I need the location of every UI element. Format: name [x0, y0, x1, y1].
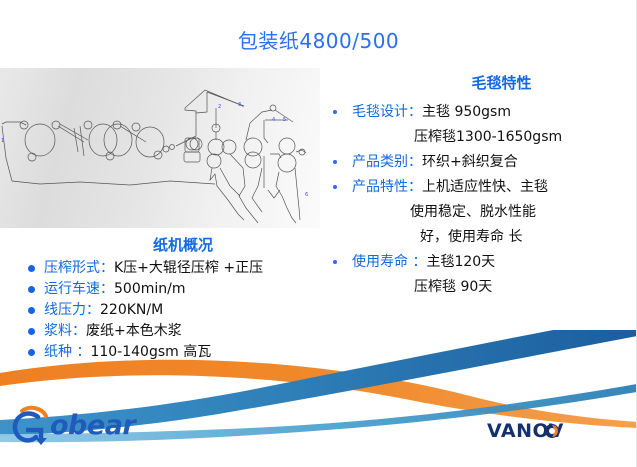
list-item: 产品类别：环织+斜织复合	[322, 151, 636, 174]
list-item: 运行车速：500min/m	[18, 279, 328, 299]
bullet-dot-icon	[333, 160, 337, 164]
diagram-label-1: 1	[1, 138, 4, 144]
gobear-mark-icon	[8, 404, 54, 450]
felt-properties-panel: 毛毯特性 毛毯设计：主毯 950gsm 压榨毯1300-1650gsm 产品类别…	[322, 72, 636, 301]
list-item: 使用寿命 ：主毯120天	[322, 251, 636, 274]
item-label: 压榨形式：	[44, 260, 114, 276]
felt-properties-heading: 毛毯特性	[322, 72, 636, 93]
item-label: 毛毯设计：	[352, 104, 422, 120]
item-label: 产品特性：	[352, 179, 422, 195]
item-continuation: 压榨毯 90天	[322, 276, 636, 299]
gobear-logo: obear	[8, 404, 168, 450]
felt-properties-list: 毛毯设计：主毯 950gsm 压榨毯1300-1650gsm 产品类别：环织+斜…	[322, 101, 636, 299]
bullet-dot-icon	[333, 110, 337, 114]
diagram-label-4: 4	[272, 117, 275, 123]
item-value: 上机适应性快、主毯	[422, 179, 548, 195]
page-title: 包装纸4800/500	[0, 25, 636, 54]
item-value: 环织+斜织复合	[422, 154, 518, 170]
item-value: 主毯 950gsm	[422, 104, 511, 120]
slide-canvas: 包装纸4800/500	[0, 0, 636, 467]
item-label: 运行车速：	[44, 281, 114, 297]
diagram-label-3: 3	[238, 102, 241, 108]
item-label: 线压力：	[44, 302, 100, 318]
item-value: 220KN/M	[100, 302, 163, 318]
diagram-label-2: 2	[218, 104, 221, 110]
paper-machine-schematic-svg: 1 2 3 4 5 6	[0, 68, 320, 228]
list-item: 线压力：220KN/M	[18, 300, 328, 320]
item-continuation: 压榨毯1300-1650gsm	[322, 126, 636, 149]
gobear-wordmark: obear	[50, 410, 135, 441]
list-item: 毛毯设计：主毯 950gsm	[322, 101, 636, 124]
item-label: 使用寿命 ：	[352, 254, 426, 270]
item-value: 主毯120天	[426, 254, 495, 270]
item-label: 产品类别：	[352, 154, 422, 170]
list-item: 压榨形式：K压+大辊径压榨 +正压	[18, 258, 328, 278]
bullet-dot-icon	[333, 185, 337, 189]
vanov-o-accent-icon	[544, 423, 560, 439]
bullet-dot-icon	[333, 260, 337, 264]
bullet-dot-icon	[28, 286, 35, 293]
list-item: 产品特性：上机适应性快、主毯	[322, 176, 636, 199]
diagram-label-6: 6	[305, 192, 308, 198]
diagram-label-5: 5	[283, 117, 286, 123]
bullet-dot-icon	[28, 265, 35, 272]
item-continuation: 使用稳定、脱水性能	[322, 201, 636, 224]
paper-machine-diagram: 1 2 3 4 5 6	[0, 68, 320, 228]
bullet-dot-icon	[28, 307, 35, 314]
item-continuation: 好，使用寿命 长	[322, 226, 636, 249]
machine-overview-heading: 纸机概况	[18, 234, 328, 255]
item-value: K压+大辊径压榨 +正压	[114, 260, 263, 276]
vanov-logo: VANOV	[487, 420, 607, 450]
item-value: 500min/m	[114, 281, 185, 297]
